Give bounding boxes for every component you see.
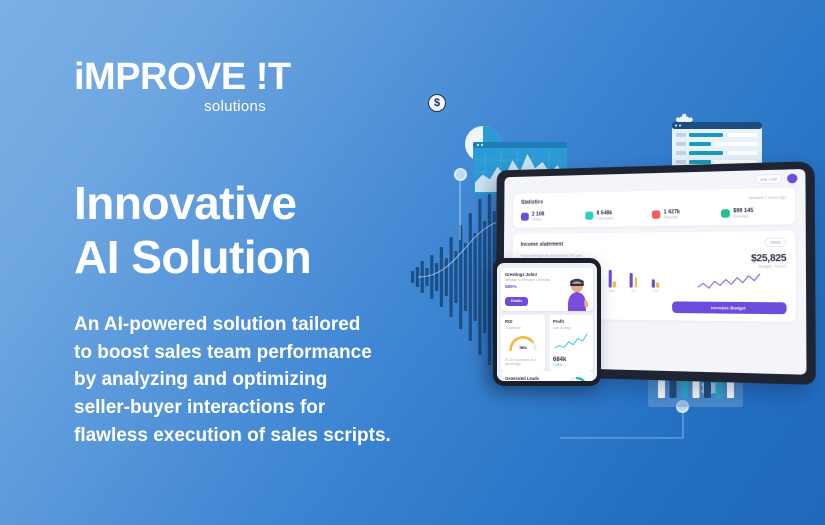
bar-income (652, 279, 655, 287)
stat-icon (585, 212, 593, 220)
increase-budget-button[interactable]: Increase Budget (672, 301, 787, 314)
statistics-meta: Updated 2 hours ago (748, 195, 786, 200)
stat-icon (521, 213, 529, 221)
roi-gauge: 78% (505, 332, 541, 352)
stat-item: 2 108Orders (521, 211, 579, 222)
roi-subtitle: Conversion (505, 326, 541, 330)
bar-expense (656, 283, 659, 288)
bar-label: May (609, 289, 615, 293)
locale-selector[interactable]: EN / US (755, 174, 783, 184)
body-line-2: to boost sales team performance (74, 339, 434, 367)
income-title: Income statement (521, 241, 564, 247)
leads-title: Generated Leads (505, 376, 539, 381)
bar-expense (634, 278, 637, 288)
roi-note: ROI is expressed as a percentage (505, 358, 541, 366)
stat-label: Orders (532, 217, 544, 221)
body-line-5: flawless execution of sales scripts. (74, 422, 434, 450)
stat-item: 8 548kCustomers (585, 210, 645, 221)
dollar-symbol: $ (434, 98, 440, 109)
roi-gauge-value: 78% (519, 346, 527, 350)
bar-expense (613, 281, 616, 288)
bar-group: May (603, 263, 620, 293)
dollar-coin-icon: $ (428, 94, 446, 112)
income-range-selector[interactable]: 2024 (765, 237, 787, 247)
tablet-app: Greetings John! Average confirmation of … (497, 263, 597, 381)
statistics-panel: Statistics Updated 2 hours ago 2 108Orde… (513, 188, 795, 228)
stat-item: $99 145Revenue (721, 207, 786, 219)
body-line-3: by analyzing and optimizing (74, 366, 434, 394)
logo-secondary-text: !T (256, 56, 291, 98)
avatar-illustration (564, 277, 590, 311)
income-sparkline (672, 272, 787, 290)
hero-illustration: $ $ (400, 60, 825, 480)
leads-donut-chart: 184 Total (565, 375, 589, 381)
bar-group: Jun (625, 263, 642, 293)
headline-line-2: AI Solution (74, 231, 434, 285)
statistics-list: 2 108Orders8 548kCustomers1 427kProducts… (521, 207, 786, 222)
stat-item: 1 427kProducts (652, 208, 715, 220)
logo-wordmark: iMPROVE!T (74, 58, 334, 96)
tablet-metrics-row: ROI Conversion 78% ROI is expressed as a… (501, 315, 593, 370)
bar-label: Jun (631, 289, 636, 293)
profit-title: Profit (553, 319, 589, 324)
bar-label: Jul (653, 289, 657, 293)
body-line-4: seller-buyer interactions for (74, 394, 434, 422)
avatar[interactable] (787, 174, 797, 184)
tablet-mockup: Greetings John! Average confirmation of … (493, 258, 601, 386)
hero-banner: iMPROVE!T solutions Innovative AI Soluti… (0, 0, 825, 525)
profit-delta: +4.8% (553, 363, 589, 367)
body-line-1: An AI-powered solution tailored (74, 311, 434, 339)
logo-primary-text: iMPROVE (74, 56, 246, 98)
brand-logo[interactable]: iMPROVE!T solutions (74, 58, 334, 115)
bar-income (609, 270, 612, 287)
bar-group: Jul (647, 263, 665, 293)
hero-description: An AI-powered solution tailored to boost… (74, 311, 434, 451)
stat-icon (652, 210, 661, 218)
profit-card: Profit Last 30 days 684k +4.8% (549, 315, 593, 370)
income-summary: $25,825 Budget: 70,000 Increase Budget (672, 253, 787, 316)
statistics-header: Statistics Updated 2 hours ago (521, 194, 786, 206)
hero-content: iMPROVE!T solutions Innovative AI Soluti… (74, 58, 434, 450)
income-header: Income statement 2024 (521, 237, 787, 249)
stat-label: Customers (596, 216, 613, 220)
income-budget: Budget: 70,000 (672, 264, 787, 268)
leads-info: Generated Leads Monthly Report 4,350 + 1… (505, 376, 539, 381)
logo-tagline: solutions (74, 98, 266, 115)
leads-card: Generated Leads Monthly Report 4,350 + 1… (501, 371, 593, 381)
roi-title: ROI (505, 319, 541, 324)
page-title: Innovative AI Solution (74, 177, 434, 285)
bar-income (630, 274, 633, 288)
greeting-details-button[interactable]: Details (505, 297, 528, 306)
greeting-card: Greetings John! Average confirmation of … (501, 268, 593, 311)
statistics-title: Statistics (521, 199, 543, 205)
profit-sparkline (553, 332, 589, 350)
roi-card: ROI Conversion 78% ROI is expressed as a… (501, 315, 545, 370)
headline-line-1: Innovative (74, 177, 434, 231)
stat-label: Products (664, 215, 680, 220)
stat-label: Revenue (733, 214, 753, 219)
income-amount: $25,825 (672, 253, 787, 264)
stat-icon (721, 209, 730, 218)
profit-subtitle: Last 30 days (553, 326, 589, 330)
